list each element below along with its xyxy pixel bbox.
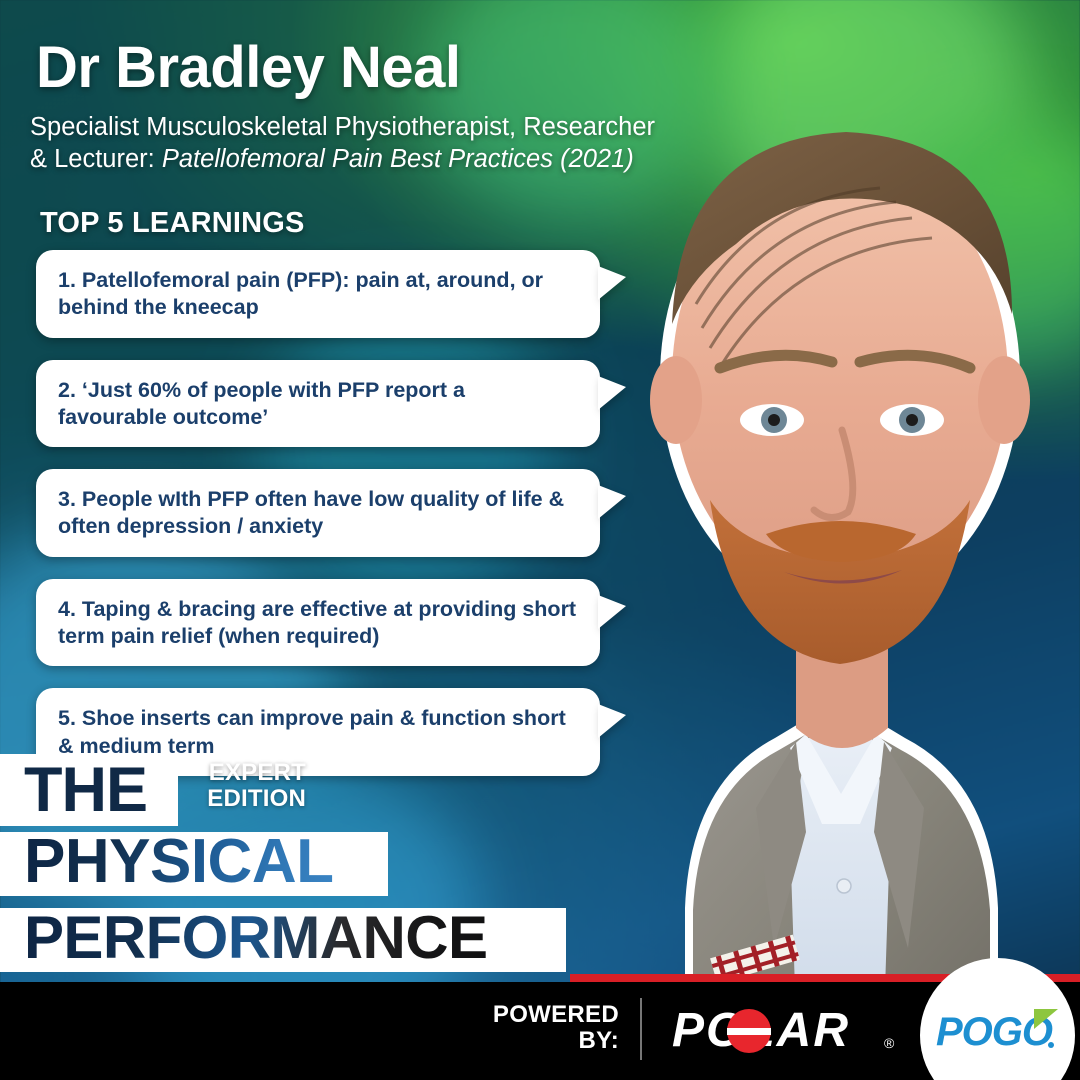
podcast-episode-graphic: Dr Bradley Neal Specialist Musculoskelet… bbox=[0, 0, 1080, 1080]
learning-bubble-3: 3. People wIth PFP often have low qualit… bbox=[36, 469, 600, 557]
learnings-list: 1. Patellofemoral pain (PFP): pain at, a… bbox=[36, 250, 636, 776]
learning-bubble-1: 1. Patellofemoral pain (PFP): pain at, a… bbox=[36, 250, 600, 338]
logo-word-the: THE bbox=[24, 755, 147, 825]
subtitle-book-title: Patellofemoral Pain Best Practices (2021… bbox=[162, 145, 634, 173]
learning-text-1: 1. Patellofemoral pain (PFP): pain at, a… bbox=[58, 267, 578, 322]
polar-registered-mark: ® bbox=[884, 1035, 894, 1051]
bubble-tail-icon bbox=[598, 595, 626, 629]
logo-word-performance: PERFORMANCE bbox=[24, 905, 487, 971]
learning-text-2: 2. ‘Just 60% of people with PFP report a… bbox=[58, 377, 578, 432]
bubble-tail-icon bbox=[598, 485, 626, 519]
bubble-tail-icon bbox=[598, 376, 626, 410]
powered-line-1: POWERED bbox=[493, 1001, 619, 1028]
pogo-dot-icon bbox=[1048, 1042, 1054, 1048]
edition-badge: EXPERT EDITION bbox=[196, 760, 306, 812]
learning-bubble-4: 4. Taping & bracing are effective at pro… bbox=[36, 579, 600, 667]
speaker-subtitle: Specialist Musculoskeletal Physiotherapi… bbox=[30, 112, 720, 175]
speaker-name: Dr Bradley Neal bbox=[36, 34, 460, 101]
learning-text-4: 4. Taping & bracing are effective at pro… bbox=[58, 596, 578, 651]
pogo-green-triangle-icon bbox=[1034, 1009, 1058, 1029]
polar-o-circle-icon bbox=[727, 1009, 771, 1053]
logo-row-performance: PERFORMANCE bbox=[0, 908, 566, 972]
logo-row-physical: PHYSICAL bbox=[0, 832, 388, 896]
bubble-tail-icon bbox=[598, 266, 626, 300]
learning-text-3: 3. People wIth PFP often have low qualit… bbox=[58, 486, 578, 541]
powered-by-label: POWERED BY: bbox=[487, 1002, 619, 1055]
edition-line-2: EDITION bbox=[207, 785, 306, 812]
speaker-portrait bbox=[560, 48, 1080, 1080]
learning-bubble-2: 2. ‘Just 60% of people with PFP report a… bbox=[36, 360, 600, 448]
powered-line-2: BY: bbox=[579, 1027, 619, 1054]
pogo-logo-inner: POGO bbox=[936, 1010, 1062, 1058]
portrait-artwork bbox=[560, 48, 1080, 1080]
bubble-tail-icon bbox=[598, 704, 626, 738]
polar-logo[interactable]: POLAR ® bbox=[672, 1005, 908, 1057]
subtitle-line-1: Specialist Musculoskeletal Physiotherapi… bbox=[30, 113, 655, 141]
edition-line-1: EXPERT bbox=[209, 759, 306, 786]
subtitle-line-2-prefix: & Lecturer: bbox=[30, 145, 162, 173]
logo-word-physical: PHYSICAL bbox=[24, 829, 333, 895]
section-heading: TOP 5 LEARNINGS bbox=[40, 207, 305, 240]
sponsor-divider bbox=[640, 998, 642, 1060]
